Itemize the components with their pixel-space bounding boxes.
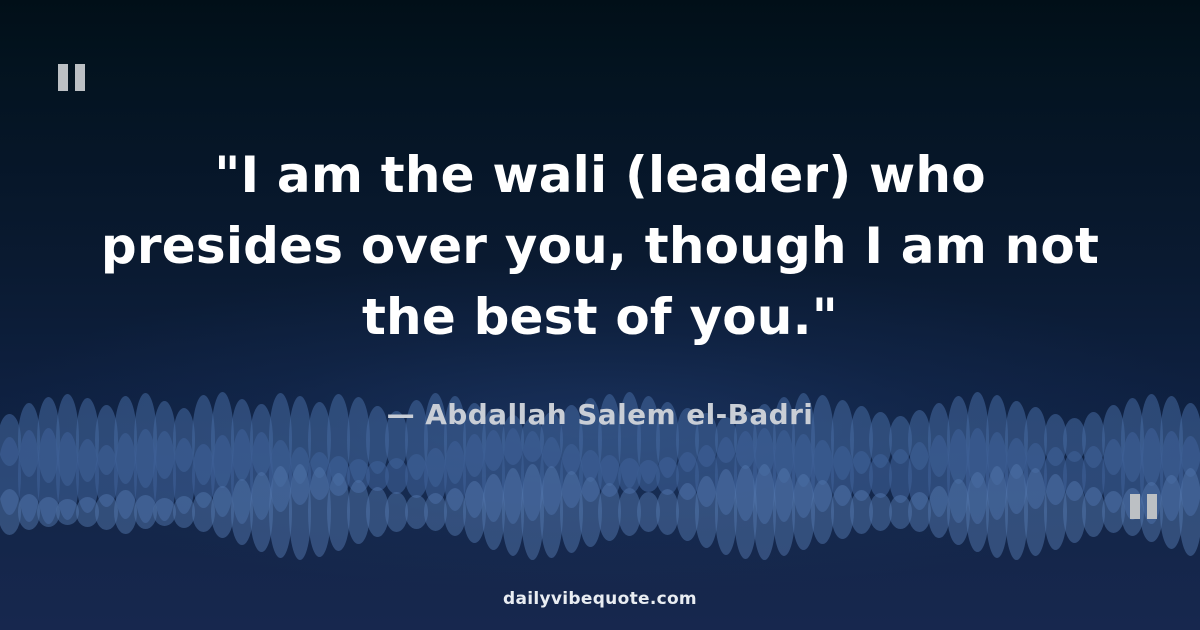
wave-blob: [56, 499, 79, 525]
wave-blob: [502, 428, 525, 524]
wave-blob: [153, 431, 176, 521]
wave-blob: [889, 495, 912, 529]
wave-blob: [656, 457, 679, 495]
wave-blob: [986, 432, 1009, 520]
wave-blob: [1024, 443, 1047, 509]
wave-blob: [869, 493, 892, 531]
wave-blob: [231, 429, 254, 524]
wave-blob: [792, 474, 815, 550]
wave-blob: [95, 445, 118, 507]
wave-blob: [95, 494, 118, 530]
wave-blob: [889, 449, 912, 503]
wave-blob: [211, 435, 234, 517]
wave-blob: [560, 471, 583, 553]
wave-blob: [308, 467, 331, 557]
wave-blob: [715, 437, 738, 515]
wave-blob: [134, 429, 157, 523]
wave-blob: [540, 437, 563, 515]
wave-blob: [1160, 475, 1183, 549]
quote-content: "I am the wali (leader) who presides ove…: [0, 140, 1200, 353]
wave-blob: [289, 447, 312, 505]
wave-blob: [1044, 447, 1067, 505]
wave-blob: [114, 490, 137, 534]
wave-blob: [444, 441, 467, 511]
wave-blob: [1102, 439, 1125, 513]
wave-blob: [715, 469, 738, 555]
site-watermark: dailyvibequote.com: [0, 589, 1200, 609]
wave-blob: [1063, 481, 1086, 543]
wave-blob: [405, 454, 428, 498]
wave-blob: [618, 458, 641, 494]
wave-blob: [327, 473, 350, 551]
wave-blob: [424, 448, 447, 504]
wave-blob: [966, 428, 989, 524]
wave-blob: [695, 476, 718, 548]
wave-blob: [753, 428, 776, 524]
wave-blob: [76, 439, 99, 513]
wave-blob: [1179, 436, 1200, 516]
quote-attribution: — Abdallah Salem el-Badri: [0, 398, 1200, 431]
wave-blob: [618, 488, 641, 536]
wave-blob: [37, 497, 60, 527]
quote-bar-left: [1130, 494, 1140, 519]
quote-bar-left: [58, 64, 68, 91]
wave-blob: [1005, 438, 1028, 514]
wave-blob: [831, 485, 854, 539]
wave-blob: [463, 434, 486, 518]
wave-blob: [289, 464, 312, 560]
wave-blob: [347, 459, 370, 493]
wave-blob: [482, 430, 505, 522]
wave-blob: [192, 492, 215, 532]
wave-blob: [850, 490, 873, 534]
wave-blob: [850, 451, 873, 501]
wave-blob: [598, 455, 621, 497]
wave-blob: [482, 474, 505, 550]
wave-blob: [366, 461, 389, 491]
wave-blob: [1102, 491, 1125, 533]
wave-blob: [831, 446, 854, 506]
wave-blob: [385, 492, 408, 532]
wave-blob: [327, 456, 350, 496]
wave-blob: [1044, 474, 1067, 550]
wave-blob: [656, 489, 679, 535]
wave-blob: [269, 466, 292, 558]
wave-blob: [966, 472, 989, 552]
wave-blob: [153, 498, 176, 526]
wave-blob: [734, 465, 757, 559]
wave-blob: [1160, 431, 1183, 521]
wave-blob: [908, 442, 931, 510]
wave-blob: [947, 429, 970, 523]
wave-blob: [269, 440, 292, 512]
wave-blob: [773, 468, 796, 556]
quote-mark-open-icon: [58, 64, 85, 91]
wave-blob: [1005, 464, 1028, 560]
wave-blob: [869, 454, 892, 498]
wave-blob: [792, 434, 815, 518]
wave-blob: [1024, 468, 1047, 556]
wave-blob: [173, 496, 196, 528]
wave-blob: [0, 489, 21, 535]
wave-blob: [540, 466, 563, 558]
wave-blob: [811, 480, 834, 544]
wave-blob: [211, 486, 234, 538]
wave-blob: [250, 472, 273, 552]
wave-blob: [734, 431, 757, 521]
wave-blob: [444, 488, 467, 536]
wave-blob: [1082, 446, 1105, 506]
wave-blob: [134, 495, 157, 529]
wave-blob: [676, 452, 699, 500]
wave-blob: [637, 492, 660, 532]
wave-blob: [637, 460, 660, 492]
wave-row-middle: [0, 428, 1200, 524]
wave-blob: [521, 464, 544, 560]
wave-blob: [811, 440, 834, 512]
wave-blob: [773, 430, 796, 522]
wave-blob: [502, 468, 525, 556]
quote-bar-right: [75, 64, 85, 91]
wave-blob: [424, 493, 447, 531]
wave-blob: [366, 487, 389, 537]
wave-blob: [598, 483, 621, 541]
wave-blob: [114, 433, 137, 519]
wave-blob: [1179, 468, 1200, 556]
wave-blob: [560, 444, 583, 508]
wave-blob: [173, 438, 196, 514]
wave-blob: [308, 452, 331, 500]
wave-blob: [0, 437, 21, 515]
wave-blob: [231, 479, 254, 545]
wave-blob: [521, 431, 544, 521]
wave-blob: [928, 486, 951, 538]
wave-blob: [695, 445, 718, 507]
wave-blob: [947, 479, 970, 545]
wave-blob: [1082, 487, 1105, 537]
wave-blob: [250, 432, 273, 520]
wave-blob: [18, 494, 41, 530]
wave-blob: [76, 497, 99, 527]
wave-blob: [579, 477, 602, 547]
quote-card: "I am the wali (leader) who presides ove…: [0, 0, 1200, 630]
wave-blob: [347, 480, 370, 544]
wave-blob: [385, 458, 408, 494]
wave-blob: [908, 492, 931, 532]
wave-row-bottom: [0, 464, 1200, 560]
wave-blob: [928, 435, 951, 517]
quote-text: "I am the wali (leader) who presides ove…: [95, 140, 1105, 353]
quote-mark-close-icon: [1130, 494, 1157, 519]
wave-blob: [676, 483, 699, 541]
wave-blob: [579, 450, 602, 502]
wave-blob: [753, 464, 776, 560]
wave-blob: [405, 495, 428, 529]
wave-blob: [463, 481, 486, 543]
wave-blob: [192, 444, 215, 508]
quote-bar-right: [1147, 494, 1157, 519]
wave-blob: [37, 428, 60, 524]
wave-blob: [56, 432, 79, 520]
wave-blob: [1063, 451, 1086, 501]
wave-blob: [986, 466, 1009, 558]
wave-blob: [18, 430, 41, 522]
